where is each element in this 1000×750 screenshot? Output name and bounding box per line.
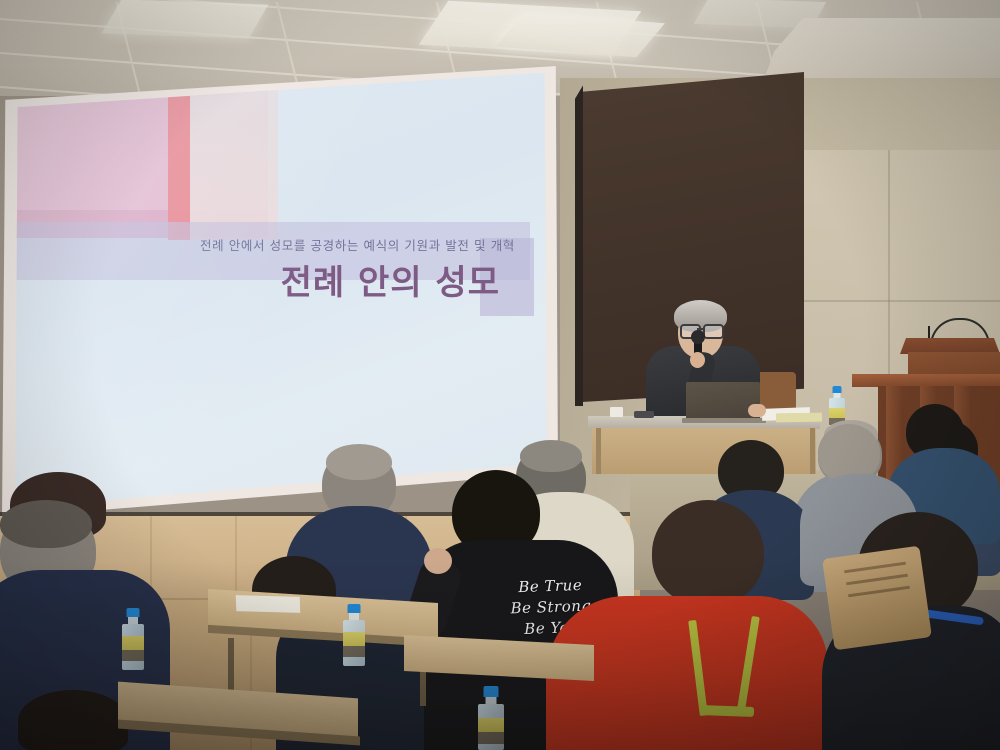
ceiling-light-fixture: [102, 0, 269, 39]
papers-on-desk: [236, 595, 301, 613]
dark-wall-panel-edge: [575, 72, 583, 406]
table-leg: [596, 428, 601, 474]
water-bottle: [478, 686, 504, 750]
water-bottle: [122, 608, 144, 670]
presenter-hand: [748, 404, 766, 417]
slide-red-bar: [168, 88, 190, 240]
presenter-hand: [690, 352, 705, 368]
presenter-glasses: [703, 324, 724, 339]
lanyard-clip: [700, 705, 754, 717]
papers-on-table: [776, 413, 822, 423]
laptop-base: [682, 418, 766, 423]
phone-on-table: [634, 411, 654, 418]
water-bottle: [343, 604, 365, 666]
presentation-slide: 전례 안에서 성모를 공경하는 예식의 기원과 발전 및 개혁 전례 안의 성모: [10, 70, 550, 512]
table-leg: [810, 428, 815, 474]
microphone-head: [691, 330, 705, 344]
slide-subtitle: 전례 안에서 성모를 공경하는 예식의 기원과 발전 및 개혁: [200, 235, 510, 254]
small-box-on-table: [610, 407, 623, 417]
slide-grey-block: [190, 88, 278, 240]
wall-seam: [790, 300, 1000, 302]
slide-title: 전례 안의 성모: [190, 255, 500, 304]
lecture-hall-photo: 전례 안에서 성모를 공경하는 예식의 기원과 발전 및 개혁 전례 안의 성모: [0, 0, 1000, 750]
tshirt-person-hand: [424, 548, 452, 574]
chair-back: [822, 546, 932, 651]
